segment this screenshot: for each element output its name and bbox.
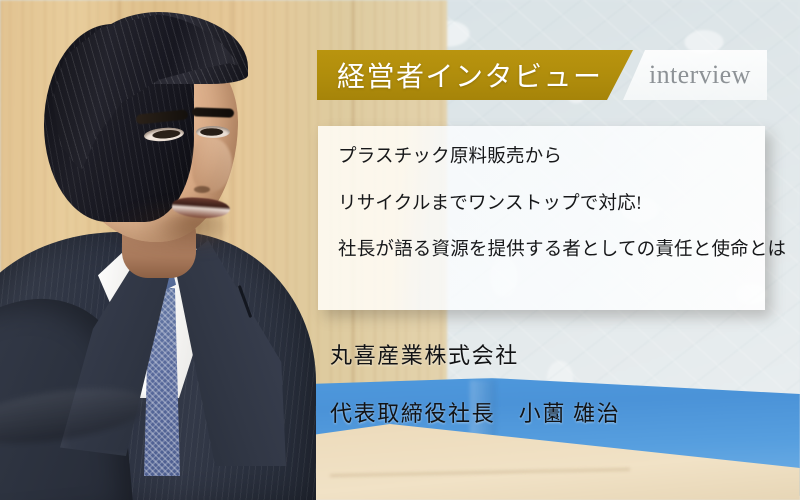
headline-line-3: 社長が語る資源を提供する者としての責任と使命とは [338,241,755,260]
caption: 丸喜産業株式会社 代表取締役社長 小薗 雄治 [330,338,620,428]
headline-copy-card: プラスチック原料販売から リサイクルまでワンストップで対応! 社長が語る資源を提… [318,126,765,310]
headline-line-1: プラスチック原料販売から [338,148,755,167]
interviewee-portrait [0,0,326,500]
company-name: 丸喜産業株式会社 [330,338,620,370]
interview-hero-banner: 経営者インタビュー interview プラスチック原料販売から リサイクルまで… [0,0,800,500]
person-title-and-name: 代表取締役社長 小薗 雄治 [330,396,620,428]
headline-line-2: リサイクルまでワンストップで対応! [338,195,755,214]
nostril [194,186,210,193]
banner-title-ja: 経営者インタビュー [337,50,603,100]
headline-copy-lines: プラスチック原料販売から リサイクルまでワンストップで対応! 社長が語る資源を提… [338,148,755,260]
banner-title-en: interview [649,50,751,100]
jaw-shadow [104,196,224,258]
eyebrow-right [192,107,234,117]
eye-right [196,126,230,138]
